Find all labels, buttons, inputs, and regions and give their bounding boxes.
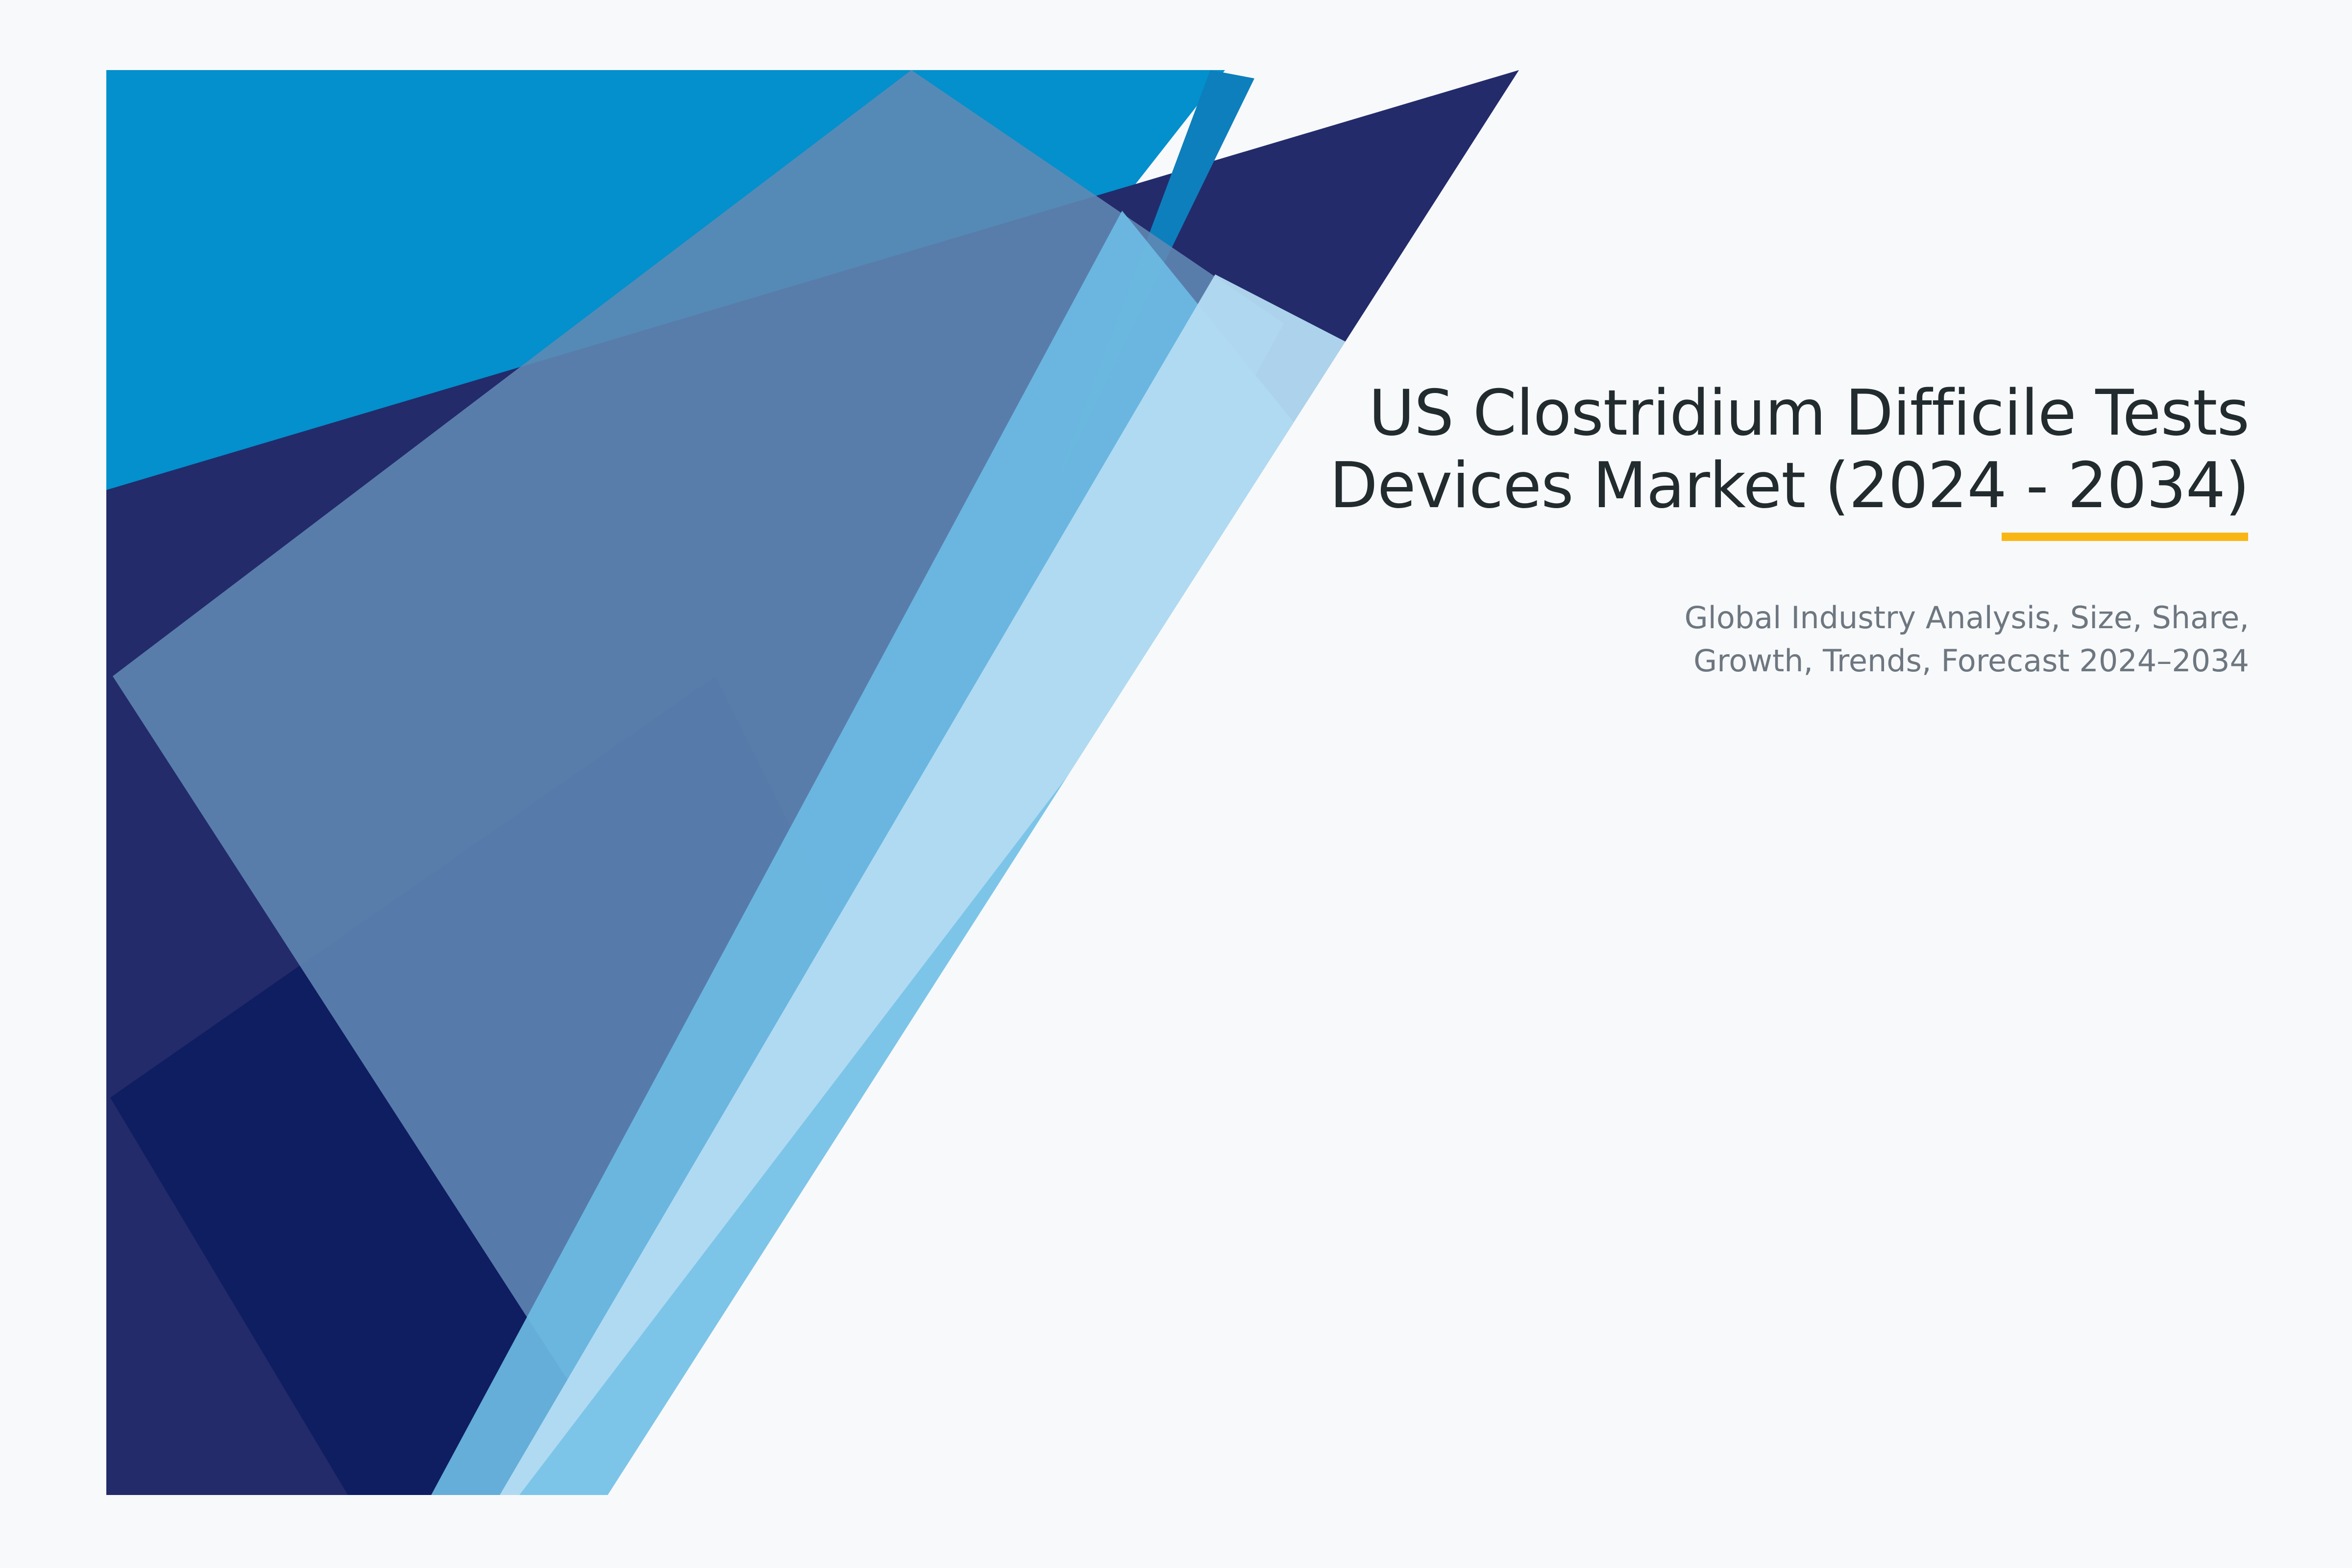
cover-text-block: US Clostridium Difficile Tests Devices M… [1127,377,2249,683]
title-accent-rule [2002,533,2248,541]
page-title: US Clostridium Difficile Tests Devices M… [1127,377,2249,523]
page-subtitle: Global Industry Analysis, Size, Share, G… [1127,596,2249,683]
abstract-geometric-artwork [0,0,2352,1568]
title-wrapper: US Clostridium Difficile Tests Devices M… [1127,377,2249,523]
report-cover-page: US Clostridium Difficile Tests Devices M… [0,0,2352,1568]
